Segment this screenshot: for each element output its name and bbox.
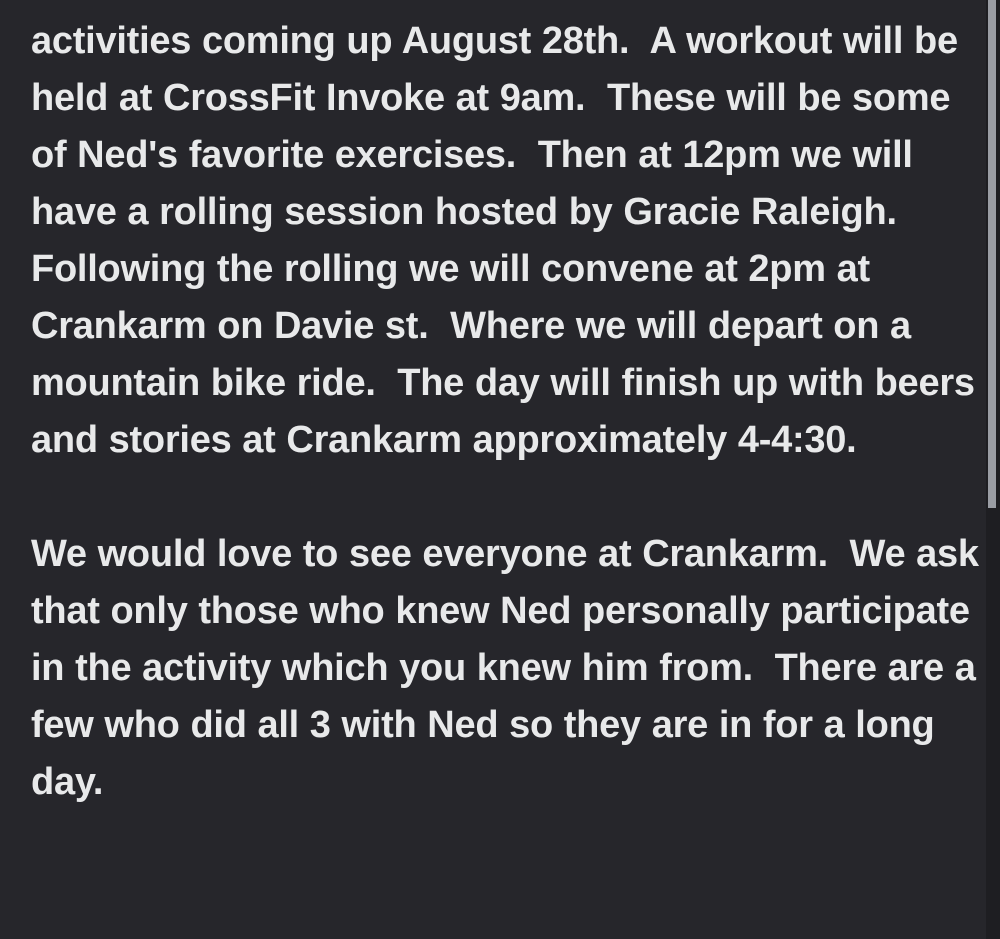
post-screen: everyone to join us for a day of activit… <box>0 0 1000 939</box>
clipped-previous-line: everyone to join us for a day of <box>0 0 975 4</box>
post-paragraph-2: We would love to see everyone at Crankar… <box>31 526 981 811</box>
post-paragraph-1: activities coming up August 28th. A work… <box>31 13 981 469</box>
paragraph-spacer <box>31 469 981 526</box>
scrollbar-thumb[interactable] <box>988 0 996 508</box>
scrollbar-track[interactable] <box>986 0 1000 939</box>
post-text-body: activities coming up August 28th. A work… <box>31 13 981 811</box>
